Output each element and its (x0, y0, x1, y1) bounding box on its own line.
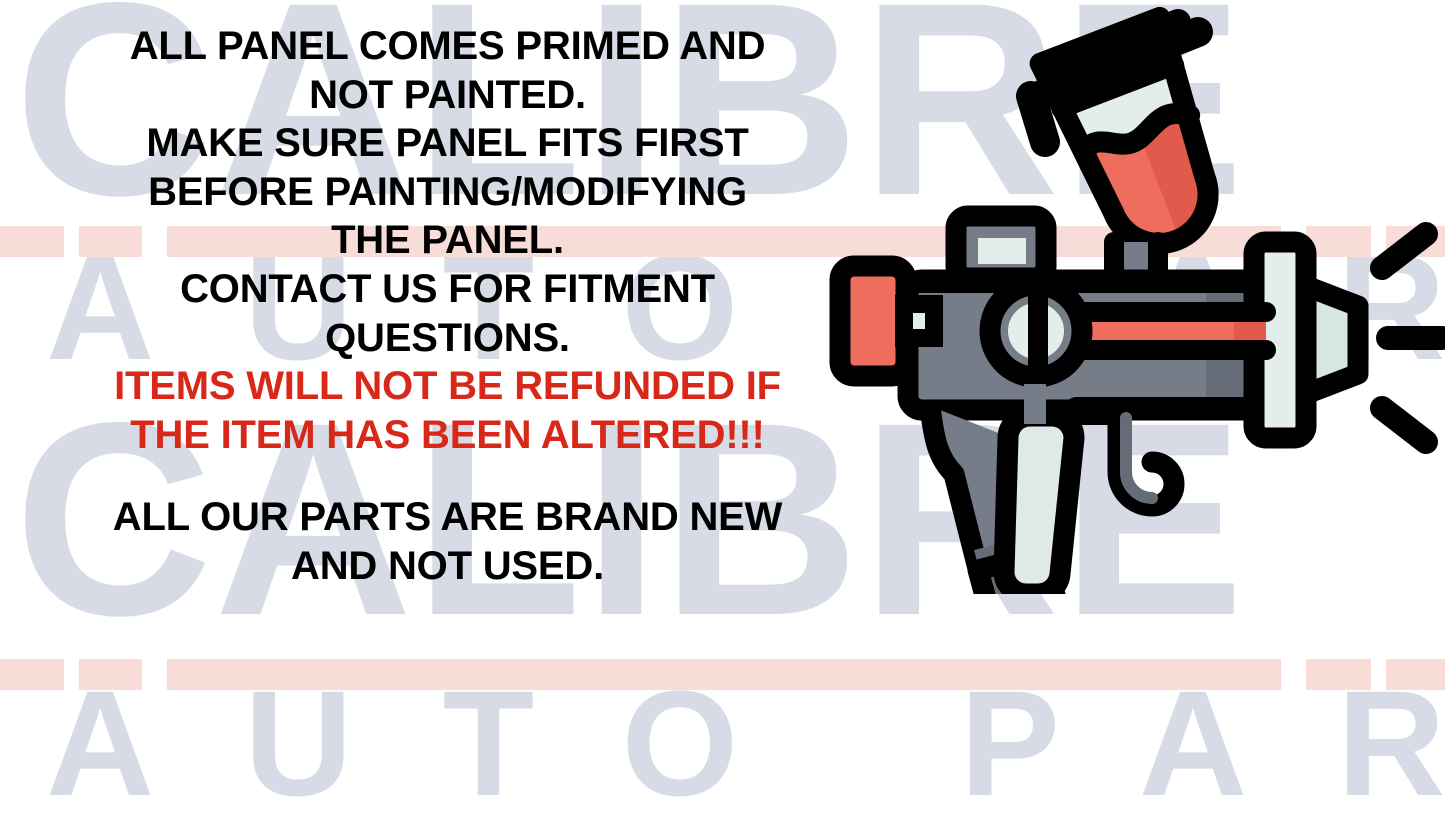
notice-line: QUESTIONS. (60, 314, 835, 363)
accent-band-gap (64, 659, 79, 690)
notice-line: ALL OUR PARTS ARE BRAND NEW (60, 493, 835, 542)
notice-line: AND NOT USED. (60, 542, 835, 591)
paint-cup-icon (1031, 18, 1236, 302)
notice-line: BEFORE PAINTING/MODIFYING (60, 168, 835, 217)
spray-lines-icon (1382, 234, 1442, 442)
accent-band-bottom (0, 659, 1445, 690)
notice-line-warning: THE ITEM HAS BEEN ALTERED!!! (60, 411, 835, 460)
notice-line-spacer (60, 459, 835, 493)
notice-line: THE PANEL. (60, 216, 835, 265)
spray-gun-illustration (826, 0, 1445, 594)
accent-band-gap (1371, 659, 1386, 690)
notice-line: NOT PAINTED. (60, 71, 835, 120)
notice-line-warning: ITEMS WILL NOT BE REFUNDED IF (60, 362, 835, 411)
notice-line: ALL PANEL COMES PRIMED AND (60, 22, 835, 71)
accent-band-gap (1281, 659, 1306, 690)
notice-line: CONTACT US FOR FITMENT (60, 265, 835, 314)
promo-banner: CALIBRE AUTO PARTS CALIBRE AUTO PARTS AL… (0, 0, 1445, 813)
accent-band-gap (142, 659, 167, 690)
notice-line: MAKE SURE PANEL FITS FIRST (60, 119, 835, 168)
nozzle-icon (1254, 242, 1358, 438)
notice-text-block: ALL PANEL COMES PRIMED AND NOT PAINTED. … (60, 22, 835, 591)
